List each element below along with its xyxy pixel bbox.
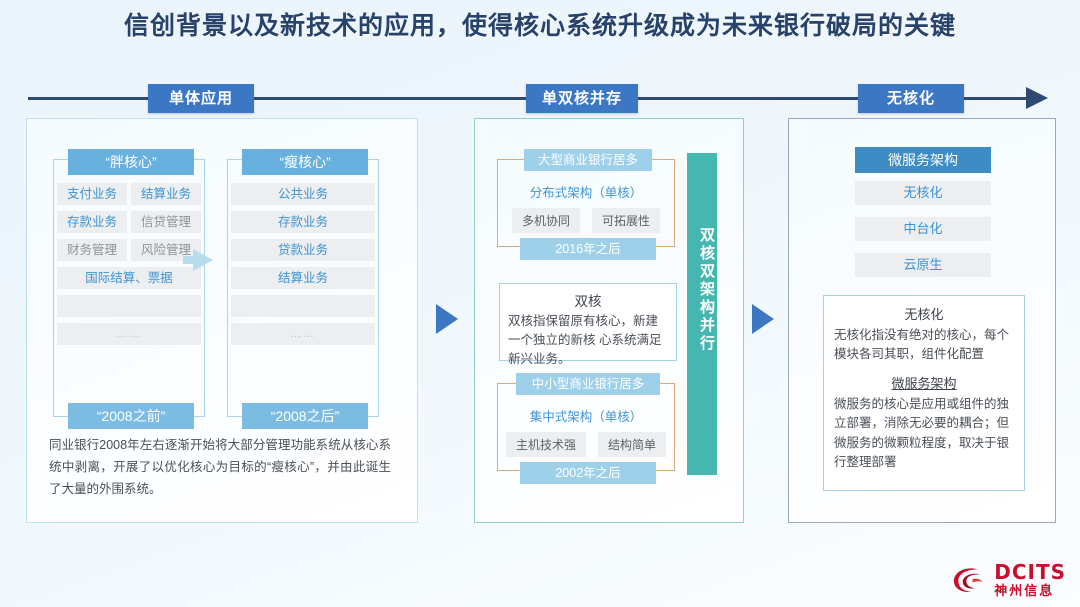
small-medium-bank-tags: 主机技术强 结构简单	[498, 432, 674, 457]
tag-item[interactable]: 结构简单	[598, 432, 666, 457]
panel-transition-arrow-1-icon	[436, 304, 458, 334]
fat-core-cell-grid: 支付业务 结算业务 存款业务 信贷管理 财务管理 风险管理 国际结算、票据 ……	[57, 183, 201, 351]
cell-row: ……	[231, 323, 375, 345]
dual-core-parallel-label: 双核双架构并行	[687, 227, 717, 353]
cell-item[interactable]: 国际结算、票据	[57, 267, 201, 289]
large-bank-header: 大型商业银行居多	[524, 149, 652, 171]
cell-item[interactable]: 结算业务	[131, 183, 201, 205]
panel3-item-coreless[interactable]: 无核化	[855, 181, 991, 205]
column-header-fat-core: “胖核心”	[68, 149, 194, 175]
column-footer-before-2008: “2008之前”	[68, 403, 194, 429]
panel3-item-cloudnative[interactable]: 云原生	[855, 253, 991, 277]
microservice-section-body: 微服务的核心是应用或组件的独立部署，消除无必要的耦合；但微服务的微颗粒程度，取决…	[824, 392, 1024, 473]
cell-row	[231, 295, 375, 317]
dual-core-definition-box: 双核 双核指保留原有核心，新建一个独立的新核 心系统满足新兴业务。	[499, 283, 677, 361]
company-logo: DCITS 神州信息	[951, 562, 1066, 597]
transition-arrow-icon	[193, 249, 213, 271]
cell-item[interactable]: 支付业务	[57, 183, 127, 205]
cell-row: 公共业务	[231, 183, 375, 205]
cell-row: 贷款业务	[231, 239, 375, 261]
microservice-section-title: 微服务架构	[824, 373, 1024, 392]
logo-text-en: DCITS	[994, 562, 1066, 582]
page-title: 信创背景以及新技术的应用，使得核心系统升级成为未来银行破局的关键	[0, 6, 1080, 42]
small-medium-bank-subtitle: 集中式架构（单核）	[498, 406, 674, 425]
timeline-stage-2[interactable]: 单双核并存	[526, 84, 638, 113]
panel-dual-core-coexistence: 大型商业银行居多 分布式架构（单核） 多机协同 可拓展性 2016年之后 双核 …	[474, 118, 744, 523]
timeline: 单体应用 单双核并存 无核化	[28, 84, 1058, 114]
dual-core-parallel-bar: 双核双架构并行	[687, 153, 717, 475]
thin-core-cell-grid: 公共业务 存款业务 贷款业务 结算业务 ……	[231, 183, 375, 351]
cell-item-ellipsis: ……	[57, 323, 201, 345]
cell-item[interactable]: 公共业务	[231, 183, 375, 205]
coreless-section-title: 无核化	[824, 304, 1024, 323]
large-bank-footer-year: 2016年之后	[520, 238, 656, 260]
panel3-item-midplatform[interactable]: 中台化	[855, 217, 991, 241]
timeline-arrow-icon	[1026, 87, 1048, 109]
cell-row: ……	[57, 323, 201, 345]
cell-item-empty	[57, 295, 201, 317]
large-bank-tags: 多机协同 可拓展性	[498, 208, 674, 233]
cell-item[interactable]: 存款业务	[57, 211, 127, 233]
column-header-thin-core: “瘦核心”	[242, 149, 368, 175]
small-medium-bank-block: 中小型商业银行居多 集中式架构（单核） 主机技术强 结构简单 2002年之后	[497, 383, 675, 471]
small-medium-bank-footer-year: 2002年之后	[520, 462, 656, 484]
microservice-architecture-header: 微服务架构	[855, 147, 991, 173]
dual-core-title: 双核	[500, 290, 676, 310]
panel1-description: 同业银行2008年左右逐渐开始将大部分管理功能系统从核心系统中剥离，开展了以优化…	[49, 435, 391, 501]
dcits-swirl-icon	[951, 564, 987, 596]
cell-row: 国际结算、票据	[57, 267, 201, 289]
cell-row: 存款业务	[231, 211, 375, 233]
dual-core-body: 双核指保留原有核心，新建一个独立的新核 心系统满足新兴业务。	[500, 310, 676, 368]
cell-item[interactable]: 财务管理	[57, 239, 127, 261]
cell-item-empty	[231, 295, 375, 317]
panel-coreless: 微服务架构 无核化 中台化 云原生 无核化 无核化指没有绝对的核心，每个模块各司…	[788, 118, 1056, 523]
timeline-stage-3[interactable]: 无核化	[858, 84, 964, 113]
logo-wordmark: DCITS 神州信息	[994, 562, 1066, 597]
cell-item-ellipsis: ……	[231, 323, 375, 345]
tag-item[interactable]: 多机协同	[512, 208, 580, 233]
coreless-section-body: 无核化指没有绝对的核心，每个模块各司其职，组件化配置	[824, 323, 1024, 365]
cell-row	[57, 295, 201, 317]
coreless-definition-box: 无核化 无核化指没有绝对的核心，每个模块各司其职，组件化配置 微服务架构 微服务…	[823, 295, 1025, 491]
cell-row: 支付业务 结算业务	[57, 183, 201, 205]
cell-item[interactable]: 存款业务	[231, 211, 375, 233]
cell-item[interactable]: 结算业务	[231, 267, 375, 289]
small-medium-bank-header: 中小型商业银行居多	[516, 373, 660, 395]
cell-row: 结算业务	[231, 267, 375, 289]
large-bank-block: 大型商业银行居多 分布式架构（单核） 多机协同 可拓展性 2016年之后	[497, 159, 675, 247]
cell-item[interactable]: 信贷管理	[131, 211, 201, 233]
timeline-stage-1[interactable]: 单体应用	[148, 84, 254, 113]
panel-transition-arrow-2-icon	[752, 304, 774, 334]
tag-item[interactable]: 主机技术强	[506, 432, 586, 457]
logo-text-cn: 神州信息	[994, 584, 1066, 597]
cell-row: 存款业务 信贷管理	[57, 211, 201, 233]
panel-monolithic-application: “胖核心” 支付业务 结算业务 存款业务 信贷管理 财务管理 风险管理 国际结算…	[26, 118, 418, 523]
page-title-text: 信创背景以及新技术的应用，使得核心系统升级成为未来银行破局的关键	[124, 11, 956, 40]
tag-item[interactable]: 可拓展性	[592, 208, 660, 233]
column-footer-after-2008: “2008之后”	[242, 403, 368, 429]
cell-row: 财务管理 风险管理	[57, 239, 201, 261]
large-bank-subtitle: 分布式架构（单核）	[498, 182, 674, 201]
cell-item[interactable]: 贷款业务	[231, 239, 375, 261]
